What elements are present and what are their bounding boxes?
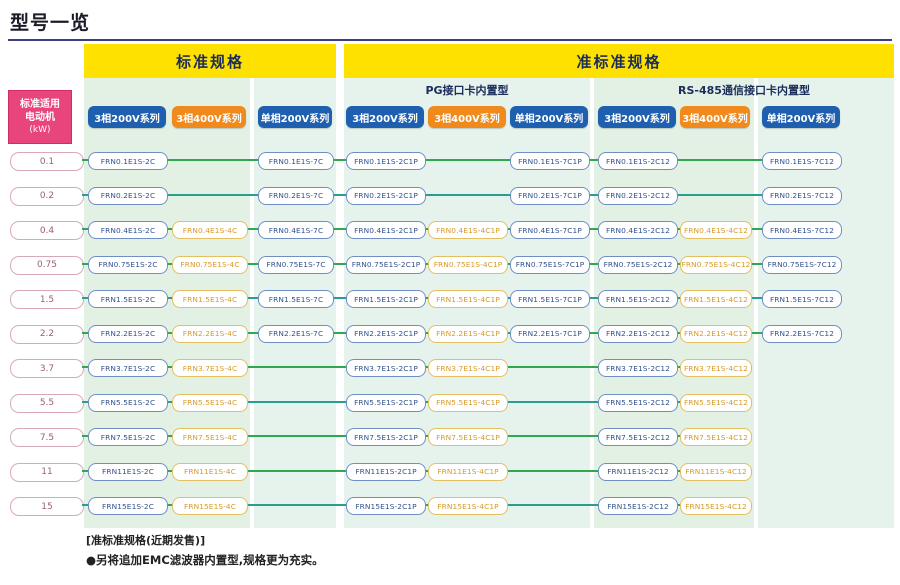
footer-notes: [准标准规格(近期发售)] ●另将追加EMC滤波器内置型,规格更为充实。 (0, 530, 900, 585)
model-cell: FRN0.4E1S-7C12 (762, 221, 842, 239)
model-cell: FRN7.5E1S-2C1P (346, 428, 426, 446)
connector-line (506, 504, 598, 506)
model-cell: FRN0.75E1S-2C (88, 256, 168, 274)
model-cell: FRN11E1S-2C1P (346, 463, 426, 481)
model-cell: FRN7.5E1S-4C (172, 428, 248, 446)
model-number: FRN11E1S-2C (102, 467, 154, 476)
model-number: FRN0.2E1S-2C (101, 191, 155, 200)
model-list-table: 标准规格 准标准规格 PG接口卡内置型 RS-485通信接口卡内置型 标准适用 … (0, 44, 900, 528)
model-cell: FRN0.2E1S-7C1P (510, 187, 590, 205)
model-number: FRN1.5E1S-2C (101, 295, 155, 304)
column-header-std_3p200: 3相200V系列 (88, 106, 166, 128)
model-number: FRN0.75E1S-4C (180, 260, 239, 269)
model-cell: FRN5.5E1S-4C (172, 394, 248, 412)
model-number: FRN2.2E1S-2C (101, 329, 155, 338)
model-cell: FRN3.7E1S-4C1P (428, 359, 508, 377)
model-number: FRN7.5E1S-4C (183, 433, 237, 442)
connector-line (166, 194, 258, 196)
subgroup-caption-pg: PG接口卡内置型 (344, 80, 590, 100)
model-number: FRN1.5E1S-2C1P (354, 295, 418, 304)
column-header-std_1p200: 单相200V系列 (258, 106, 332, 128)
model-number: FRN11E1S-2C12 (607, 467, 669, 476)
model-cell: FRN2.2E1S-2C (88, 325, 168, 343)
connector-line (506, 435, 598, 437)
column-header-pg_1p200-label: 单相200V系列 (515, 110, 584, 125)
power-rating-value: 0.4 (40, 226, 54, 236)
model-cell: FRN0.2E1S-7C12 (762, 187, 842, 205)
model-cell: FRN2.2E1S-7C12 (762, 325, 842, 343)
model-cell: FRN7.5E1S-2C (88, 428, 168, 446)
power-rating-cell: 5.5 (10, 394, 84, 413)
model-number: FRN0.75E1S-7C12 (768, 260, 837, 269)
connector-line (332, 159, 346, 161)
model-number: FRN0.4E1S-4C1P (436, 226, 500, 235)
motor-rating-header: 标准适用 电动机 (kW) (8, 90, 72, 144)
model-cell: FRN2.2E1S-4C (172, 325, 248, 343)
model-cell: FRN0.4E1S-4C (172, 221, 248, 239)
model-number: FRN0.4E1S-2C12 (606, 226, 670, 235)
model-cell: FRN0.4E1S-7C1P (510, 221, 590, 239)
model-number: FRN0.75E1S-4C1P (434, 260, 503, 269)
model-cell: FRN5.5E1S-2C1P (346, 394, 426, 412)
title-bar: 型号一览 (0, 6, 900, 40)
model-number: FRN2.2E1S-7C (269, 329, 323, 338)
model-cell: FRN15E1S-4C12 (680, 497, 752, 515)
power-rating-cell: 0.2 (10, 187, 84, 206)
column-header-rs_3p200: 3相200V系列 (598, 106, 676, 128)
group-header-semi-standard: 准标准规格 (344, 44, 894, 78)
power-rating-value: 7.5 (40, 433, 54, 443)
model-cell: FRN15E1S-4C (172, 497, 248, 515)
model-number: FRN15E1S-4C12 (685, 502, 747, 511)
model-cell: FRN11E1S-4C1P (428, 463, 508, 481)
footer-note-heading: [准标准规格(近期发售)] (86, 532, 205, 548)
model-number: FRN2.2E1S-7C1P (518, 329, 582, 338)
power-rating-cell: 0.75 (10, 256, 84, 275)
connector-line (332, 297, 346, 299)
model-cell: FRN1.5E1S-4C (172, 290, 248, 308)
power-rating-value: 11 (41, 467, 52, 477)
model-number: FRN1.5E1S-7C1P (518, 295, 582, 304)
model-cell: FRN11E1S-4C (172, 463, 248, 481)
connector-line (246, 435, 346, 437)
model-number: FRN0.1E1S-2C (101, 157, 155, 166)
model-cell: FRN1.5E1S-7C (258, 290, 334, 308)
column-header-pg_3p400-label: 3相400V系列 (434, 110, 500, 125)
connector-line (246, 366, 346, 368)
model-number: FRN1.5E1S-4C12 (684, 295, 748, 304)
connector-line (676, 194, 762, 196)
connector-line (332, 194, 346, 196)
model-number: FRN0.2E1S-2C1P (354, 191, 418, 200)
model-number: FRN0.75E1S-2C (98, 260, 157, 269)
model-cell: FRN0.1E1S-7C1P (510, 152, 590, 170)
model-number: FRN0.4E1S-2C1P (354, 226, 418, 235)
motor-rating-line1: 标准适用 (20, 98, 60, 111)
model-number: FRN2.2E1S-2C1P (354, 329, 418, 338)
model-cell: FRN1.5E1S-7C1P (510, 290, 590, 308)
model-cell: FRN0.75E1S-4C (172, 256, 248, 274)
model-number: FRN5.5E1S-2C12 (606, 398, 670, 407)
model-cell: FRN5.5E1S-4C1P (428, 394, 508, 412)
model-number: FRN7.5E1S-2C12 (606, 433, 670, 442)
power-rating-cell: 0.1 (10, 152, 84, 171)
connector-line (246, 401, 346, 403)
model-cell: FRN0.4E1S-2C (88, 221, 168, 239)
model-number: FRN0.2E1S-7C12 (770, 191, 834, 200)
model-cell: FRN0.75E1S-4C1P (428, 256, 508, 274)
model-cell: FRN11E1S-2C12 (598, 463, 678, 481)
model-number: FRN2.2E1S-7C12 (770, 329, 834, 338)
model-number: FRN0.1E1S-7C12 (770, 157, 834, 166)
connector-line (166, 159, 258, 161)
model-cell: FRN15E1S-4C1P (428, 497, 508, 515)
model-number: FRN0.75E1S-4C12 (682, 260, 751, 269)
model-number: FRN0.4E1S-7C12 (770, 226, 834, 235)
power-rating-cell: 3.7 (10, 359, 84, 378)
column-header-rs_3p400: 3相400V系列 (680, 106, 750, 128)
model-cell: FRN0.1E1S-2C12 (598, 152, 678, 170)
motor-rating-line2: 电动机 (25, 111, 55, 124)
model-cell: FRN0.75E1S-7C12 (762, 256, 842, 274)
power-rating-value: 0.2 (40, 191, 54, 201)
group-header-standard: 标准规格 (84, 44, 336, 78)
power-rating-cell: 2.2 (10, 325, 84, 344)
model-cell: FRN2.2E1S-2C1P (346, 325, 426, 343)
model-cell: FRN5.5E1S-4C12 (680, 394, 752, 412)
model-number: FRN0.1E1S-2C12 (606, 157, 670, 166)
model-cell: FRN0.4E1S-4C12 (680, 221, 752, 239)
column-header-std_3p200-label: 3相200V系列 (94, 110, 160, 125)
model-cell: FRN0.4E1S-4C1P (428, 221, 508, 239)
model-cell: FRN3.7E1S-2C1P (346, 359, 426, 377)
model-number: FRN2.2E1S-4C (183, 329, 237, 338)
footer-note-body: ●另将追加EMC滤波器内置型,规格更为充实。 (86, 552, 324, 568)
model-number: FRN15E1S-2C1P (355, 502, 416, 511)
model-cell: FRN11E1S-4C12 (680, 463, 752, 481)
connector-line (506, 401, 598, 403)
group-header-semi-standard-label: 准标准规格 (576, 51, 661, 72)
model-number: FRN0.4E1S-4C (183, 226, 237, 235)
subgroup-caption-rs485-label: RS-485通信接口卡内置型 (678, 82, 810, 98)
model-cell: FRN0.75E1S-4C12 (680, 256, 752, 274)
model-number: FRN15E1S-2C12 (607, 502, 669, 511)
column-header-rs_1p200-label: 单相200V系列 (767, 110, 836, 125)
model-number: FRN2.2E1S-2C12 (606, 329, 670, 338)
model-cell: FRN0.2E1S-2C12 (598, 187, 678, 205)
model-number: FRN3.7E1S-4C12 (684, 364, 748, 373)
connector-line (676, 159, 762, 161)
power-rating-value: 0.1 (40, 157, 54, 167)
model-number: FRN0.4E1S-7C1P (518, 226, 582, 235)
model-number: FRN0.75E1S-2C1P (352, 260, 421, 269)
model-number: FRN11E1S-2C1P (355, 467, 416, 476)
column-header-std_3p400: 3相400V系列 (172, 106, 246, 128)
model-number: FRN1.5E1S-7C12 (770, 295, 834, 304)
model-number: FRN15E1S-2C (102, 502, 154, 511)
model-cell: FRN0.1E1S-2C1P (346, 152, 426, 170)
model-cell: FRN15E1S-2C12 (598, 497, 678, 515)
model-number: FRN11E1S-4C1P (437, 467, 498, 476)
power-rating-value: 0.75 (37, 260, 57, 270)
model-number: FRN3.7E1S-2C12 (606, 364, 670, 373)
column-header-pg_3p200-label: 3相200V系列 (352, 110, 418, 125)
connector-line (506, 366, 598, 368)
model-number: FRN5.5E1S-2C (101, 398, 155, 407)
column-header-pg_3p400: 3相400V系列 (428, 106, 506, 128)
model-number: FRN7.5E1S-4C1P (436, 433, 500, 442)
subgroup-caption-rs485: RS-485通信接口卡内置型 (594, 80, 894, 100)
model-number: FRN7.5E1S-2C1P (354, 433, 418, 442)
connector-line (332, 263, 346, 265)
model-number: FRN7.5E1S-4C12 (684, 433, 748, 442)
model-number: FRN15E1S-4C1P (437, 502, 498, 511)
power-rating-cell: 7.5 (10, 428, 84, 447)
model-cell: FRN0.75E1S-2C1P (346, 256, 426, 274)
power-rating-value: 3.7 (40, 364, 54, 374)
model-number: FRN0.4E1S-7C (269, 226, 323, 235)
column-header-rs_1p200: 单相200V系列 (762, 106, 840, 128)
model-cell: FRN0.2E1S-2C (88, 187, 168, 205)
model-cell: FRN1.5E1S-4C12 (680, 290, 752, 308)
subgroup-caption-pg-label: PG接口卡内置型 (425, 82, 508, 98)
model-number: FRN0.2E1S-7C (269, 191, 323, 200)
model-number: FRN0.1E1S-2C1P (354, 157, 418, 166)
connector-line (506, 470, 598, 472)
connector-line (332, 332, 346, 334)
column-header-rs_3p200-label: 3相200V系列 (604, 110, 670, 125)
model-cell: FRN7.5E1S-4C1P (428, 428, 508, 446)
column-header-std_3p400-label: 3相400V系列 (176, 110, 242, 125)
model-number: FRN2.2E1S-4C12 (684, 329, 748, 338)
power-rating-value: 2.2 (40, 329, 54, 339)
model-cell: FRN0.4E1S-2C12 (598, 221, 678, 239)
model-number: FRN3.7E1S-2C1P (354, 364, 418, 373)
model-number: FRN3.7E1S-2C (101, 364, 155, 373)
model-cell: FRN11E1S-2C (88, 463, 168, 481)
model-cell: FRN0.1E1S-7C12 (762, 152, 842, 170)
model-number: FRN0.75E1S-7C1P (516, 260, 585, 269)
model-cell: FRN0.75E1S-7C1P (510, 256, 590, 274)
power-rating-cell: 15 (10, 497, 84, 516)
model-cell: FRN0.2E1S-7C (258, 187, 334, 205)
model-cell: FRN3.7E1S-2C (88, 359, 168, 377)
model-cell: FRN3.7E1S-4C12 (680, 359, 752, 377)
model-number: FRN1.5E1S-4C1P (436, 295, 500, 304)
model-cell: FRN1.5E1S-2C12 (598, 290, 678, 308)
model-cell: FRN2.2E1S-7C1P (510, 325, 590, 343)
model-cell: FRN0.75E1S-7C (258, 256, 334, 274)
model-cell: FRN1.5E1S-4C1P (428, 290, 508, 308)
model-cell: FRN3.7E1S-4C (172, 359, 248, 377)
model-cell: FRN7.5E1S-2C12 (598, 428, 678, 446)
motor-rating-unit: (kW) (29, 124, 50, 136)
model-cell: FRN15E1S-2C1P (346, 497, 426, 515)
column-header-std_1p200-label: 单相200V系列 (261, 110, 330, 125)
title-underline-divider (8, 39, 892, 41)
power-rating-value: 5.5 (40, 398, 54, 408)
model-cell: FRN0.1E1S-7C (258, 152, 334, 170)
model-cell: FRN0.75E1S-2C12 (598, 256, 678, 274)
connector-line (424, 159, 510, 161)
power-rating-cell: 0.4 (10, 221, 84, 240)
model-number: FRN5.5E1S-2C1P (354, 398, 418, 407)
model-cell: FRN1.5E1S-2C1P (346, 290, 426, 308)
connector-line (246, 470, 346, 472)
model-number: FRN0.4E1S-4C12 (684, 226, 748, 235)
model-number: FRN1.5E1S-7C (269, 295, 323, 304)
model-cell: FRN5.5E1S-2C (88, 394, 168, 412)
model-number: FRN3.7E1S-4C1P (436, 364, 500, 373)
model-cell: FRN1.5E1S-7C12 (762, 290, 842, 308)
model-number: FRN15E1S-4C (184, 502, 236, 511)
model-number: FRN5.5E1S-4C12 (684, 398, 748, 407)
page-title: 型号一览 (10, 8, 90, 35)
column-header-rs_3p400-label: 3相400V系列 (682, 110, 748, 125)
model-cell: FRN2.2E1S-4C1P (428, 325, 508, 343)
model-number: FRN0.4E1S-2C (101, 226, 155, 235)
model-number: FRN0.2E1S-7C1P (518, 191, 582, 200)
column-header-pg_1p200: 单相200V系列 (510, 106, 588, 128)
model-number: FRN0.75E1S-2C12 (604, 260, 673, 269)
model-number: FRN0.1E1S-7C (269, 157, 323, 166)
model-number: FRN7.5E1S-2C (101, 433, 155, 442)
model-number: FRN11E1S-4C12 (685, 467, 747, 476)
model-number: FRN5.5E1S-4C (183, 398, 237, 407)
model-number: FRN11E1S-4C (184, 467, 236, 476)
power-rating-value: 15 (41, 502, 52, 512)
model-cell: FRN15E1S-2C (88, 497, 168, 515)
model-cell: FRN1.5E1S-2C (88, 290, 168, 308)
power-rating-cell: 11 (10, 463, 84, 482)
connector-line (424, 194, 510, 196)
model-number: FRN1.5E1S-2C12 (606, 295, 670, 304)
group-header-standard-label: 标准规格 (176, 51, 244, 72)
model-number: FRN5.5E1S-4C1P (436, 398, 500, 407)
connector-line (332, 228, 346, 230)
model-cell: FRN0.4E1S-2C1P (346, 221, 426, 239)
model-cell: FRN2.2E1S-2C12 (598, 325, 678, 343)
model-cell: FRN0.4E1S-7C (258, 221, 334, 239)
model-cell: FRN3.7E1S-2C12 (598, 359, 678, 377)
power-rating-value: 1.5 (40, 295, 54, 305)
model-number: FRN2.2E1S-4C1P (436, 329, 500, 338)
model-number: FRN0.1E1S-7C1P (518, 157, 582, 166)
connector-line (246, 504, 346, 506)
model-cell: FRN7.5E1S-4C12 (680, 428, 752, 446)
model-cell: FRN0.1E1S-2C (88, 152, 168, 170)
power-rating-cell: 1.5 (10, 290, 84, 309)
model-number: FRN0.75E1S-7C (266, 260, 325, 269)
model-cell: FRN2.2E1S-4C12 (680, 325, 752, 343)
model-number: FRN0.2E1S-2C12 (606, 191, 670, 200)
model-cell: FRN2.2E1S-7C (258, 325, 334, 343)
model-cell: FRN0.2E1S-2C1P (346, 187, 426, 205)
model-number: FRN1.5E1S-4C (183, 295, 237, 304)
model-number: FRN3.7E1S-4C (183, 364, 237, 373)
model-cell: FRN5.5E1S-2C12 (598, 394, 678, 412)
column-header-pg_3p200: 3相200V系列 (346, 106, 424, 128)
